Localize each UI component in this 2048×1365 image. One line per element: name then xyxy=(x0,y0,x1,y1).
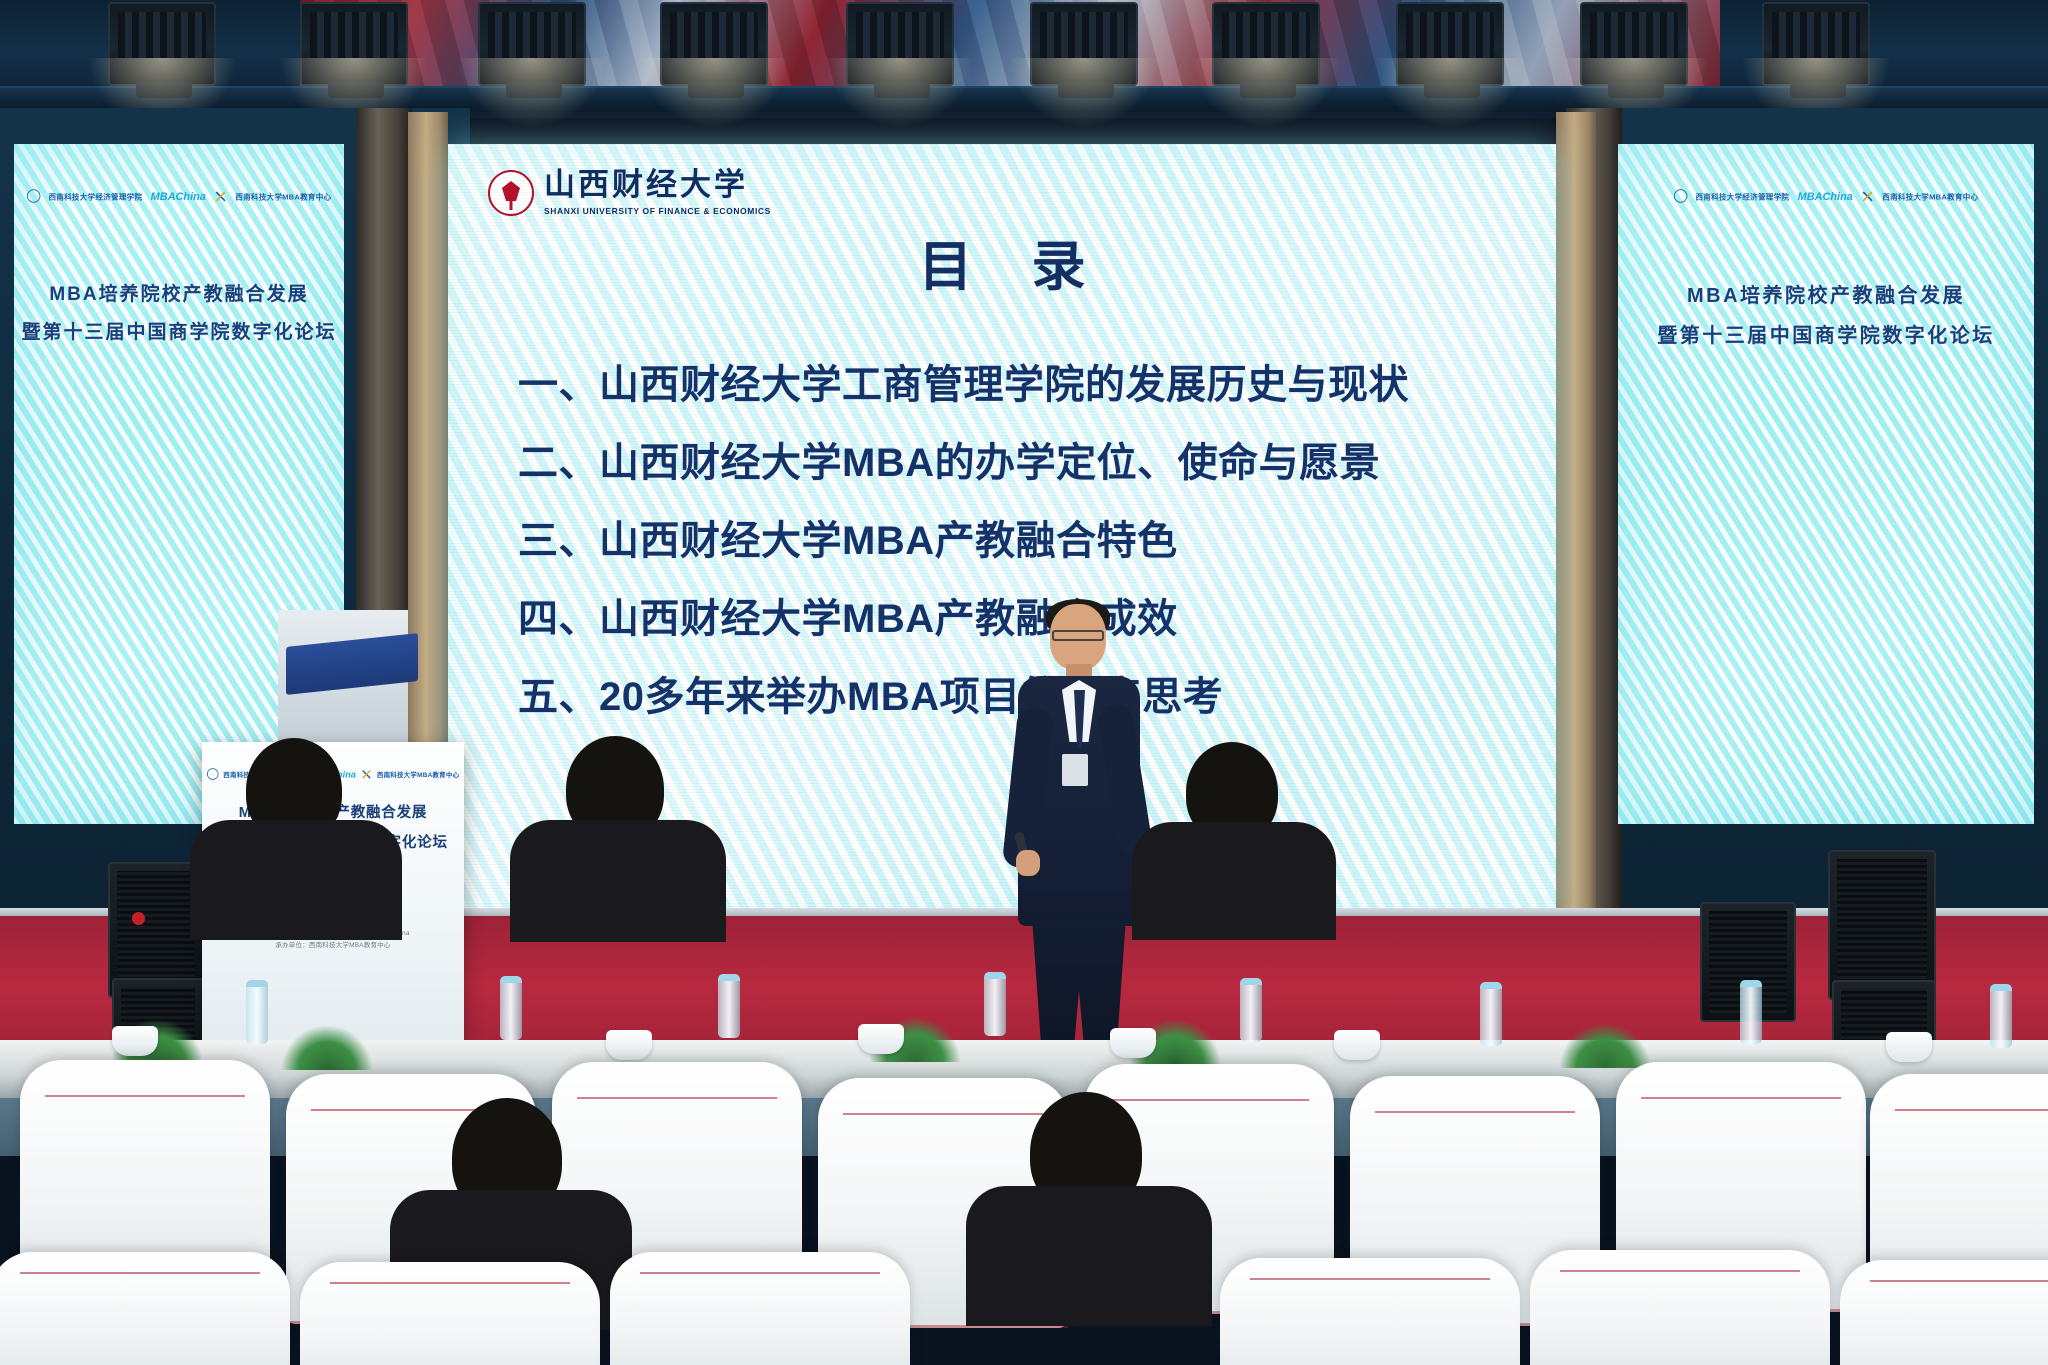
stage-light xyxy=(1580,2,1688,86)
tea-cup xyxy=(1334,1030,1380,1060)
table-plant xyxy=(1560,1024,1650,1068)
audience-chair-front xyxy=(610,1252,910,1365)
stage-light xyxy=(478,2,586,86)
mbachina-wordmark-icon: MBAChina xyxy=(151,190,206,203)
audience-chair-front xyxy=(1220,1258,1520,1365)
tea-cup xyxy=(1110,1028,1156,1058)
university-seal-icon xyxy=(488,170,534,216)
speaker-indicator-light xyxy=(132,912,145,925)
side-banner-left-logos: 西南科技大学经济管理学院 MBAChina 西南科技大学MBA教育中心 xyxy=(40,189,317,202)
side-banner-left-title: MBA培养院校产教融合发展 暨第十三届中国商学院数字化论坛 xyxy=(14,276,344,352)
side-banner-school-name: 西南科技大学经济管理学院 xyxy=(48,191,142,202)
stage-light xyxy=(1396,2,1504,86)
audience-shoulders xyxy=(190,820,402,940)
presenter xyxy=(1004,604,1154,1074)
water-bottle xyxy=(1990,984,2012,1048)
water-bottle xyxy=(718,974,740,1038)
water-bottle xyxy=(1480,982,1502,1046)
tea-cup xyxy=(112,1026,158,1056)
side-banner-center-name: 西南科技大学MBA教育中心 xyxy=(235,191,331,202)
stage-light xyxy=(300,2,408,86)
swust-seal-icon xyxy=(1674,189,1687,202)
slide-table-of-contents: 一、山西财经大学工商管理学院的发展历史与现状 二、山西财经大学MBA的办学定位、… xyxy=(448,364,1556,718)
standee-fine-print-line2: 承办单位：西南科技大学MBA教育中心 xyxy=(216,940,450,952)
stage-light xyxy=(660,2,768,86)
side-banner-left-title-line1: MBA培养院校产教融合发展 xyxy=(14,276,344,314)
side-banner-right-title: MBA培养院校产教融合发展 暨第十三届中国商学院数字化论坛 xyxy=(1618,276,2034,356)
slide-university-logo: 山西财经大学 SHANXI UNIVERSITY OF FINANCE & EC… xyxy=(488,170,771,216)
audience-chair-front xyxy=(0,1252,290,1365)
stage-light xyxy=(1030,2,1138,86)
audience-shoulders xyxy=(510,820,726,942)
conference-photo-scene: 西南科技大学经济管理学院 MBAChina 西南科技大学MBA教育中心 MBA培… xyxy=(0,0,2048,1365)
toc-item: 二、山西财经大学MBA的办学定位、使命与愿景 xyxy=(518,442,1380,484)
presenter-badge xyxy=(1062,754,1088,786)
loudspeaker-right xyxy=(1828,850,1936,1000)
side-banner-right: 西南科技大学经济管理学院 MBAChina 西南科技大学MBA教育中心 MBA培… xyxy=(1618,144,2034,824)
swust-seal-icon xyxy=(27,189,40,202)
university-name-cn: 山西财经大学 xyxy=(544,170,771,201)
audience-chair-front xyxy=(300,1262,600,1365)
side-banner-center-name: 西南科技大学MBA教育中心 xyxy=(1882,191,1978,202)
stage-light xyxy=(1762,2,1870,86)
presenter-hand xyxy=(1016,850,1040,876)
table-plant xyxy=(282,1026,372,1070)
swust-seal-icon xyxy=(207,768,219,780)
slide-title: 目 录 xyxy=(448,222,1556,301)
mba-center-x-seal-icon xyxy=(1861,190,1874,203)
stage-light xyxy=(1212,2,1320,86)
toc-item: 一、山西财经大学工商管理学院的发展历史与现状 xyxy=(518,364,1409,406)
stage-light xyxy=(846,2,954,86)
tea-cup xyxy=(858,1024,904,1054)
mbachina-wordmark-icon: MBAChina xyxy=(1798,190,1853,203)
mba-center-x-seal-icon xyxy=(214,190,227,203)
side-banner-school-name: 西南科技大学经济管理学院 xyxy=(1695,191,1789,202)
mba-center-x-seal-icon xyxy=(361,769,372,780)
standee-center-name: 西南科技大学MBA教育中心 xyxy=(377,769,459,778)
side-banner-right-title-line2: 暨第十三届中国商学院数字化论坛 xyxy=(1618,316,2034,356)
slide-university-name-block: 山西财经大学 SHANXI UNIVERSITY OF FINANCE & EC… xyxy=(544,170,771,216)
audience-chair-front xyxy=(1530,1250,1830,1365)
audience-chair-front xyxy=(1840,1260,2048,1365)
water-bottle xyxy=(984,972,1006,1036)
wood-column-right xyxy=(1556,112,1596,932)
tea-cup xyxy=(1886,1032,1932,1062)
side-banner-right-title-line1: MBA培养院校产教融合发展 xyxy=(1618,276,2034,316)
side-banner-right-logos: 西南科技大学经济管理学院 MBAChina 西南科技大学MBA教育中心 xyxy=(1651,189,2000,202)
water-bottle xyxy=(246,980,268,1044)
tea-cup xyxy=(606,1030,652,1060)
stage-light xyxy=(108,2,216,86)
side-banner-left-title-line2: 暨第十三届中国商学院数字化论坛 xyxy=(14,314,344,352)
audience-shoulders xyxy=(1132,822,1336,940)
university-name-en: SHANXI UNIVERSITY OF FINANCE & ECONOMICS xyxy=(544,206,771,216)
glasses-icon xyxy=(1052,630,1104,641)
water-bottle xyxy=(1740,980,1762,1044)
audience-shoulders xyxy=(966,1186,1212,1326)
water-bottle xyxy=(500,976,522,1040)
toc-item: 三、山西财经大学MBA产教融合特色 xyxy=(518,520,1178,562)
water-bottle xyxy=(1240,978,1262,1042)
